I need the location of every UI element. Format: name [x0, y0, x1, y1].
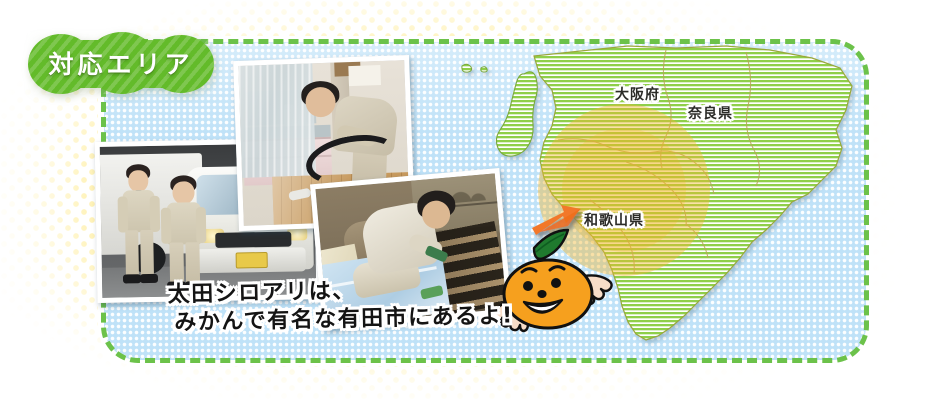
mascot-eye-left: [523, 281, 533, 291]
map-awaji-island: [496, 72, 537, 156]
service-area-badge: 対応エリア: [28, 32, 214, 94]
map-label-wakayama: 和歌山県: [584, 210, 644, 230]
badge-label: 対応エリア: [28, 32, 214, 94]
mascot-nose: [537, 290, 546, 298]
map-label-osaka: 大阪府: [615, 84, 660, 104]
mascot-eye-right: [551, 278, 561, 288]
map-islet-b: [481, 67, 487, 72]
map-label-nara: 奈良県: [688, 103, 733, 123]
mascot-body: [504, 260, 592, 328]
map-islet-a: [462, 64, 472, 72]
mascot-leaf: [534, 230, 568, 259]
handwritten-caption: 太田シロアリは、 みかんで有名な有田市にあるよ!: [167, 274, 514, 338]
service-area-banner: 大阪府 奈良県 和歌山県: [0, 0, 930, 400]
